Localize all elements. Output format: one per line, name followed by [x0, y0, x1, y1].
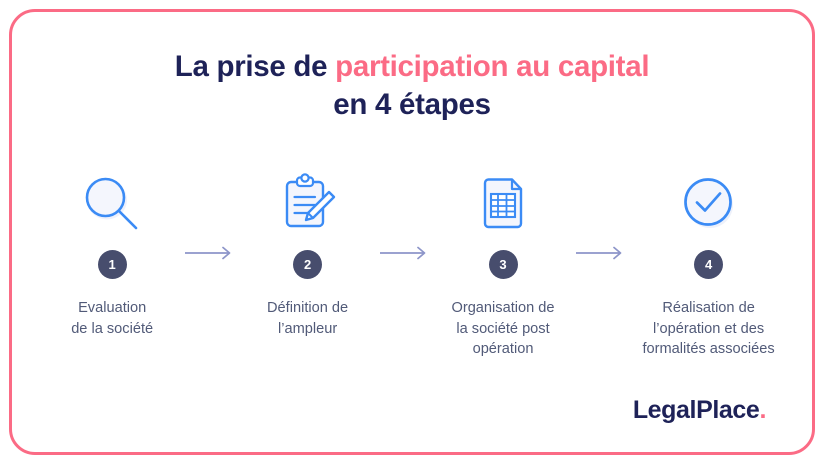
step-2-icon-box: [277, 170, 339, 236]
arrow-right-icon: [184, 246, 236, 260]
step-1-icon-box: [81, 170, 143, 236]
page-title: La prise de participation au capital en …: [12, 48, 812, 124]
step-3-icon-box: [472, 170, 534, 236]
check-circle-icon: [678, 172, 740, 234]
logo-text: LegalPlace: [633, 396, 760, 424]
step-item-4: 4 Réalisation de l’opération et des form…: [629, 170, 788, 360]
step-item-3: 3 Organisation de la société post opérat…: [433, 170, 573, 360]
step-item-1: 1 Evaluation de la société: [42, 170, 182, 339]
step-2-label: Définition de l’ampleur: [267, 298, 348, 339]
steps-row: 1 Evaluation de la société: [42, 170, 788, 370]
arrow-2-3: [377, 246, 433, 260]
step-item-2: 2 Définition de l’ampleur: [238, 170, 377, 339]
legalplace-logo: LegalPlace.: [633, 398, 766, 423]
step-4-icon-box: [678, 170, 740, 236]
arrow-1-2: [182, 246, 238, 260]
magnifying-glass-icon: [81, 172, 143, 234]
logo-dot: .: [759, 396, 766, 424]
arrow-right-icon: [379, 246, 431, 260]
title-line1-prefix: La prise de: [175, 50, 335, 83]
step-1-badge: 1: [98, 250, 127, 279]
title-line1-accent: participation au capital: [335, 50, 649, 83]
title-line2: en 4 étapes: [12, 86, 812, 124]
step-1-label: Evaluation de la société: [71, 298, 153, 339]
step-3-badge: 3: [489, 250, 518, 279]
arrow-3-4: [573, 246, 629, 260]
arrow-right-icon: [575, 246, 627, 260]
document-table-icon: [472, 172, 534, 234]
infographic-frame: La prise de participation au capital en …: [9, 9, 815, 455]
clipboard-pen-icon: [277, 172, 339, 234]
step-4-badge: 4: [694, 250, 723, 279]
step-4-label: Réalisation de l’opération et des formal…: [642, 298, 774, 360]
step-2-badge: 2: [293, 250, 322, 279]
step-3-label: Organisation de la société post opératio…: [451, 298, 554, 360]
